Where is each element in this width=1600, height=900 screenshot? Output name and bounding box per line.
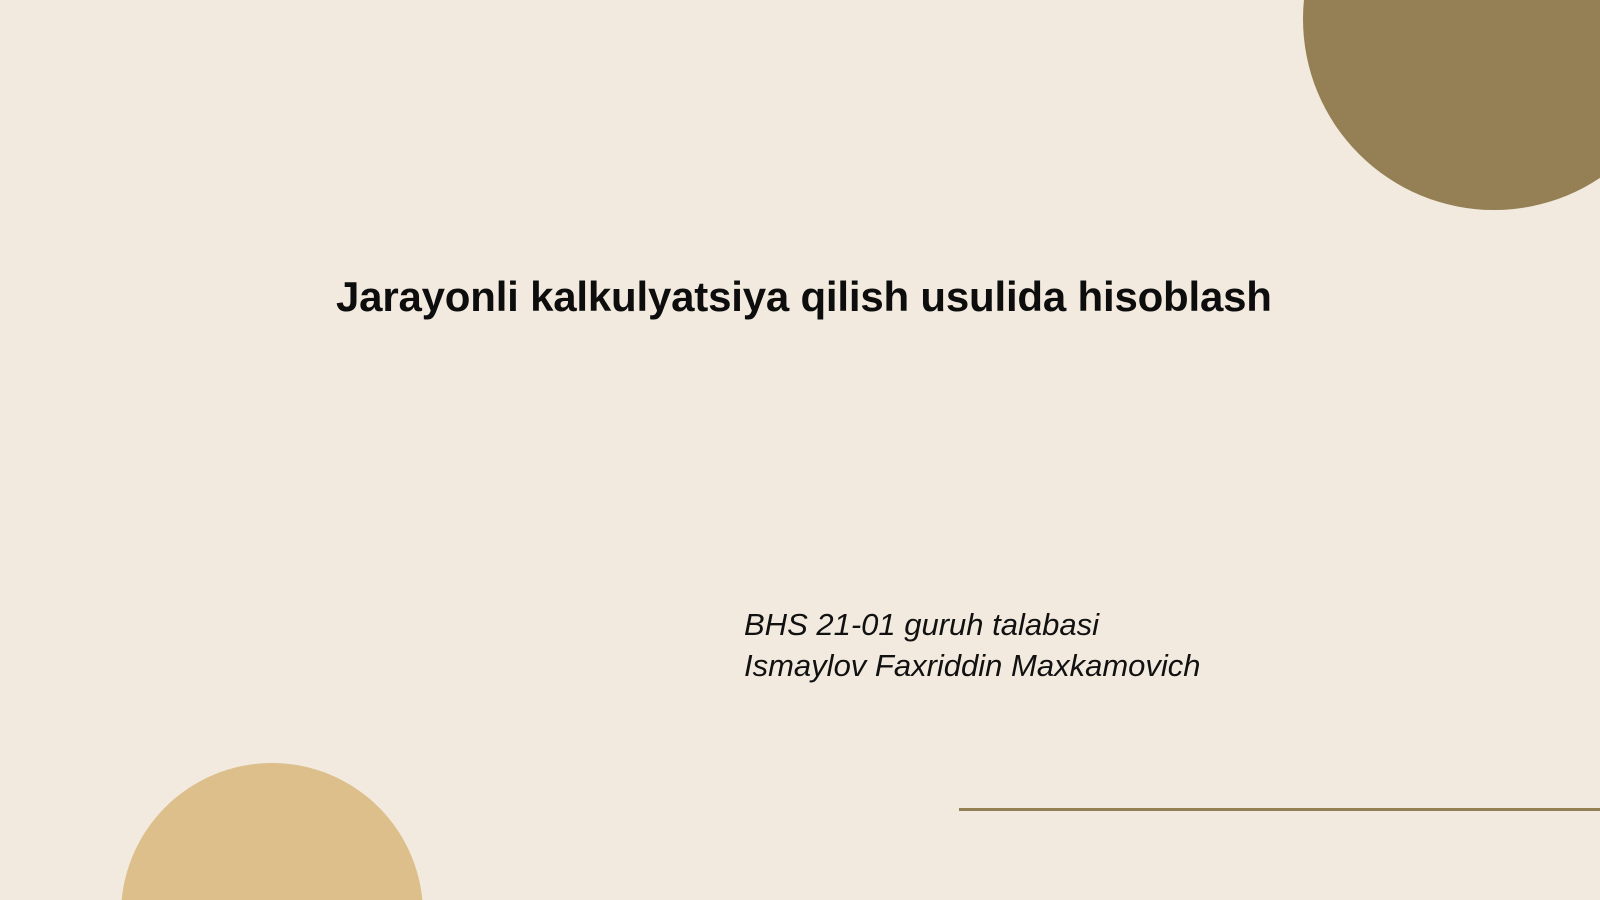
- decorative-horizontal-rule: [959, 808, 1600, 811]
- slide-title: Jarayonli kalkulyatsiya qilish usulida h…: [336, 272, 1236, 322]
- title-slide: Jarayonli kalkulyatsiya qilish usulida h…: [0, 0, 1600, 900]
- subtitle-placeholder: BHS 21-01 guruh talabasi Ismaylov Faxrid…: [744, 604, 1364, 686]
- subtitle-line-author: Ismaylov Faxriddin Maxkamovich: [744, 645, 1364, 686]
- subtitle-line-group: BHS 21-01 guruh talabasi: [744, 604, 1364, 645]
- decorative-circle-top-right: [1303, 0, 1600, 210]
- title-placeholder: Jarayonli kalkulyatsiya qilish usulida h…: [336, 272, 1236, 322]
- decorative-circle-bottom-left: [121, 763, 423, 900]
